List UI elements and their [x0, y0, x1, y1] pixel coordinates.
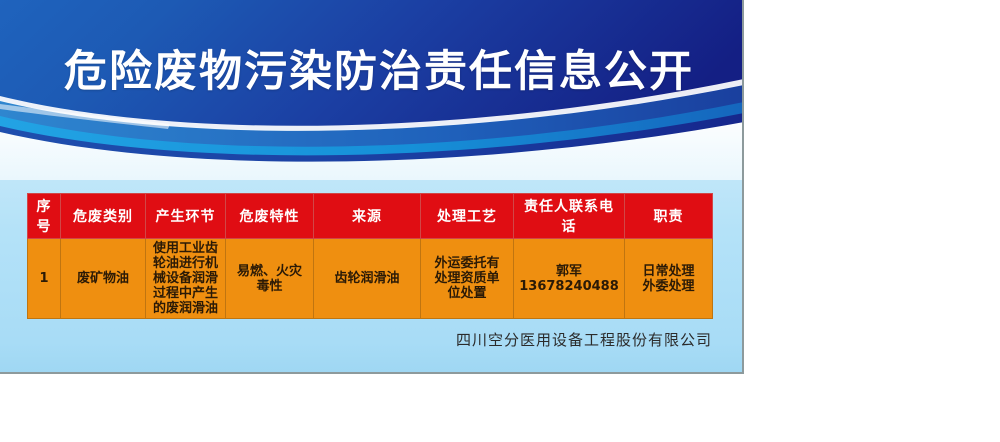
text-line: 使用工业齿 [149, 241, 222, 256]
text-line: 外运委托有 [424, 256, 510, 271]
text-line: 位处置 [424, 286, 510, 301]
text-line: 外委处理 [628, 279, 709, 294]
cell-index: 1 [28, 239, 61, 319]
text-line: 过程中产生 [149, 286, 222, 301]
cell-waste-properties: 易燃、火灾 毒性 [226, 239, 314, 319]
text-line: 轮油进行机 [149, 256, 222, 271]
cell-contact-phone: 郭军 13678240488 [514, 239, 625, 319]
text-line: 易燃、火灾 [229, 264, 310, 279]
contact-name: 郭军 [517, 264, 621, 279]
contact-number: 13678240488 [517, 279, 621, 294]
text-line: 处理资质单 [424, 271, 510, 286]
text-line: 械设备润滑 [149, 271, 222, 286]
column-header-contact-phone: 责任人联系电话 [514, 194, 625, 239]
column-header-duty: 职责 [625, 194, 713, 239]
table-row: 1 废矿物油 使用工业齿 轮油进行机 械设备润滑 过程中产生 的废润滑油 易燃、… [28, 239, 713, 319]
cell-treatment-process: 外运委托有 处理资质单 位处置 [421, 239, 514, 319]
cell-source: 齿轮润滑油 [314, 239, 421, 319]
text-line: 毒性 [229, 279, 310, 294]
column-header-waste-category: 危废类别 [61, 194, 146, 239]
table-header-row: 序号 危废类别 产生环节 危废特性 来源 处理工艺 责任人联系电话 职责 [28, 194, 713, 239]
column-header-treatment-process: 处理工艺 [421, 194, 514, 239]
cell-waste-category: 废矿物油 [61, 239, 146, 319]
screenshot-canvas: 危险废物污染防治责任信息公开 序号 危废类别 产生环节 危废特性 来源 处理工艺… [0, 0, 1000, 442]
hazardous-waste-table: 序号 危废类别 产生环节 危废特性 来源 处理工艺 责任人联系电话 职责 1 废… [27, 193, 713, 319]
column-header-generation-stage: 产生环节 [146, 194, 226, 239]
company-name: 四川空分医用设备工程股份有限公司 [27, 329, 712, 350]
column-header-source: 来源 [314, 194, 421, 239]
text-line: 日常处理 [628, 264, 709, 279]
hazardous-waste-information-poster: 危险废物污染防治责任信息公开 序号 危废类别 产生环节 危废特性 来源 处理工艺… [0, 0, 744, 374]
cell-duty: 日常处理 外委处理 [625, 239, 713, 319]
page-title: 危险废物污染防治责任信息公开 [0, 46, 744, 98]
poster-banner: 危险废物污染防治责任信息公开 [0, 0, 744, 180]
text-line: 的废润滑油 [149, 301, 222, 316]
column-header-index: 序号 [28, 194, 61, 239]
column-header-waste-properties: 危废特性 [226, 194, 314, 239]
cell-generation-stage: 使用工业齿 轮油进行机 械设备润滑 过程中产生 的废润滑油 [146, 239, 226, 319]
